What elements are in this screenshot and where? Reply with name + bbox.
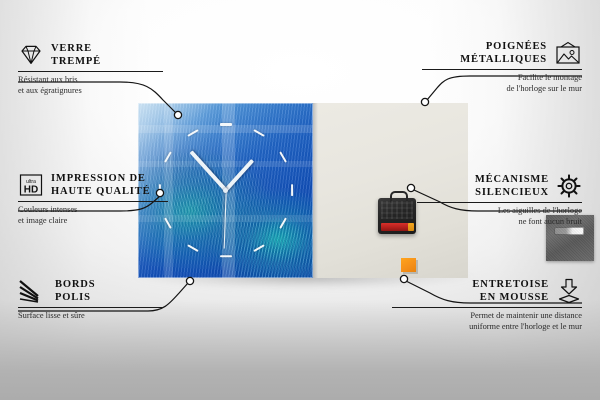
callout-header: BORDS POLIS [18,278,163,304]
callout-desc-line: et aux égratignures [18,86,163,97]
callout-title: IMPRESSION DE HAUTE QUALITÉ [51,172,150,198]
callout-desc-line: Résistant aux bris [18,75,163,86]
callout-header: VERRE TREMPÉ [18,42,163,68]
foam-spacer [401,258,416,272]
callout-header: POIGNÉES MÉTALLIQUES [422,40,582,66]
callout-poignees-metalliques[interactable]: POIGNÉES MÉTALLIQUES Facilite le montage… [422,40,582,94]
foam-spacer-arrow-icon [556,278,582,304]
polished-edges-icon [18,279,48,303]
clock-center-cap [223,188,228,193]
callout-desc-line: Permet de maintenir une distance [392,311,582,322]
callout-divider [392,307,582,308]
callout-divider [18,71,163,72]
callout-entretoise-en-mousse[interactable]: ENTRETOISE EN MOUSSE Permet de maintenir… [392,278,582,332]
diamond-icon [18,44,44,66]
callout-desc-line: et image claire [18,216,168,227]
callout-title: VERRE TREMPÉ [51,42,101,68]
callout-divider [417,202,582,203]
callout-desc-line: Facilite le montage [422,73,582,84]
callout-impression-haute-qualite[interactable]: ultra HD IMPRESSION DE HAUTE QUALITÉ Cou… [18,172,168,226]
mechanism-texture [381,201,413,219]
battery [381,223,411,231]
callout-title: MÉCANISME SILENCIEUX [475,173,549,199]
callout-header: MÉCANISME SILENCIEUX [417,173,582,199]
callout-title: POIGNÉES MÉTALLIQUES [460,40,547,66]
infographic-canvas: VERRE TREMPÉ Résistant aux bris et aux é… [0,0,600,400]
clock-tick [290,184,292,196]
callout-desc-line: uniforme entre l'horloge et le mur [392,322,582,333]
callout-divider [18,307,163,308]
callout-title: ENTRETOISE EN MOUSSE [472,278,549,304]
callout-header: ultra HD IMPRESSION DE HAUTE QUALITÉ [18,172,168,198]
callout-desc-line: Surface lisse et sûre [18,311,163,322]
gear-icon [556,173,582,199]
callout-header: ENTRETOISE EN MOUSSE [392,278,582,304]
quartz-mechanism-box [378,198,416,234]
callout-title: BORDS POLIS [55,278,95,304]
callout-desc-line: ne font aucun bruit [417,217,582,228]
callout-bords-polis[interactable]: BORDS POLIS Surface lisse et sûre [18,278,163,322]
callout-desc-line: Couleurs intenses [18,205,168,216]
callout-mecanisme-silencieux[interactable]: MÉCANISME SILENCIEUX Les aiguilles de l'… [417,173,582,227]
callout-divider [18,201,168,202]
svg-text:HD: HD [24,185,38,196]
callout-desc-line: de l'horloge sur le mur [422,84,582,95]
picture-hanger-icon [554,41,582,65]
callout-verre-trempe[interactable]: VERRE TREMPÉ Résistant aux bris et aux é… [18,42,163,96]
callout-divider [422,69,582,70]
clock-tick [220,123,232,125]
callout-desc-line: Les aiguilles de l'horloge [417,206,582,217]
ultra-hd-icon: ultra HD [18,173,44,197]
